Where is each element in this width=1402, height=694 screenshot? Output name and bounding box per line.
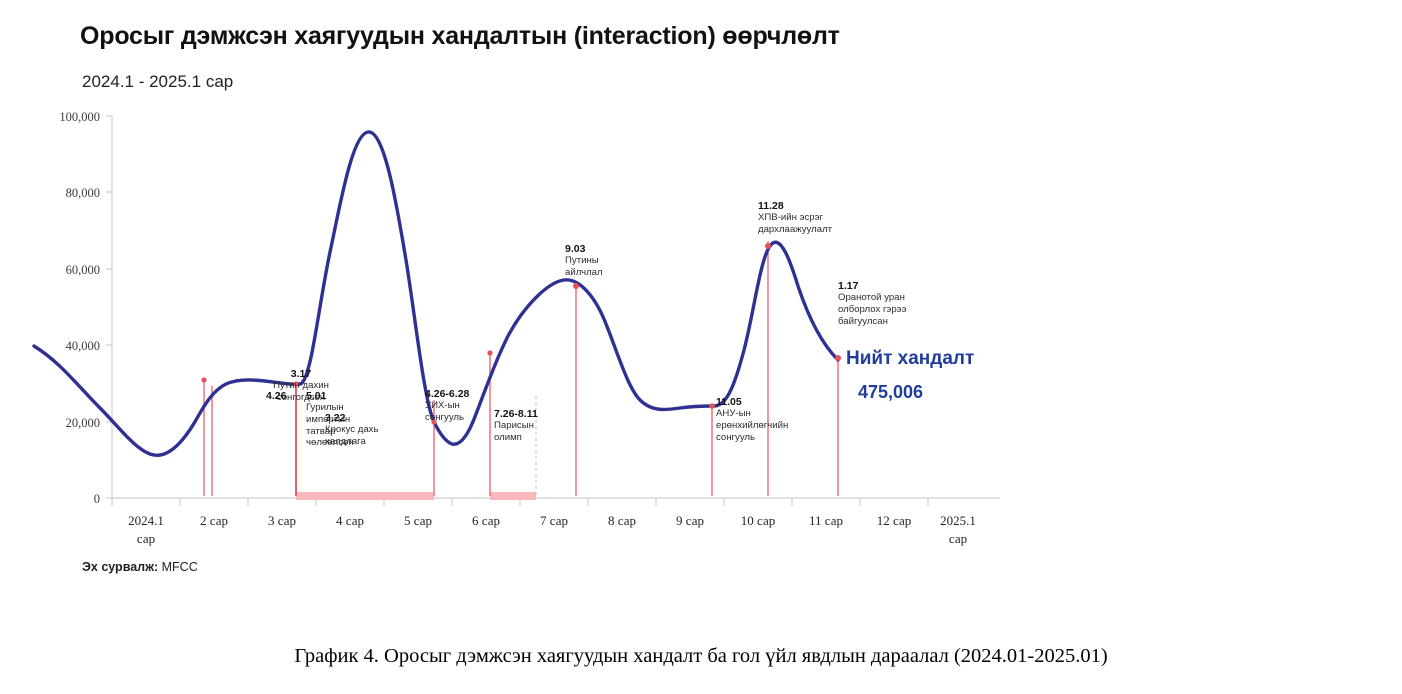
point-1105 (709, 403, 715, 409)
x-tick-label: 11 сар (809, 513, 843, 528)
annotation-1105: 11.05 АНУ-ын ерөнхийлөгчийн сонгууль (716, 396, 808, 443)
annotation-date: 3.17 (265, 368, 337, 380)
point-317 (201, 377, 206, 382)
annotation-date: 5.01 (306, 390, 364, 402)
annotation-date: 11.28 (758, 200, 856, 212)
source-prefix: Эх сурвалж: (82, 560, 158, 574)
annotation-date: 11.05 (716, 396, 808, 408)
point-726 (487, 350, 492, 355)
chart-subtitle: 2024.1 - 2025.1 сар (82, 72, 233, 92)
annotation-date: 4.26 (266, 390, 286, 402)
annotation-date: 4.26-6.28 (425, 388, 487, 400)
point-117 (835, 355, 841, 361)
source-note: Эх сурвалж: MFCC (82, 560, 198, 574)
annotation-text: Гурилын импортын татвар чөлөөлсөн (306, 402, 364, 449)
event-band-uih-songuuli (296, 492, 434, 500)
annotation-text: Парисын олимп (494, 420, 552, 443)
line-chart-svg: 100,000 80,000 60,000 40,000 20,000 0 (0, 100, 1060, 560)
plot-area: 100,000 80,000 60,000 40,000 20,000 0 (0, 100, 1060, 560)
y-tick-label: 100,000 (59, 110, 100, 124)
y-tick-label: 0 (94, 492, 100, 506)
annotation-426: 4.26 (266, 390, 286, 402)
annotation-date: 1.17 (838, 280, 926, 292)
annotation-text: Оранотой уран олборлох гэрээ байгуулсан (838, 292, 926, 327)
annotation-text: ХПВ-ийн эсрэг дархлаажуулалт (758, 212, 856, 235)
y-tick-label: 40,000 (66, 339, 100, 353)
x-tick-label: 7 сар (540, 513, 568, 528)
point-1128 (765, 243, 771, 249)
x-tick-label: 2024.1сар (128, 513, 164, 546)
annotation-117: 1.17 Оранотой уран олборлох гэрээ байгуу… (838, 280, 926, 327)
x-tick-label: 2 сар (200, 513, 228, 528)
y-axis-ticks: 100,000 80,000 60,000 40,000 20,000 0 (59, 110, 112, 506)
total-interactions-label: Нийт хандалт (846, 348, 974, 370)
x-axis-labels: 2024.1сар 2 сар 3 сар 4 сар 5 сар 6 сар … (128, 513, 976, 546)
x-tick-label: 12 сар (877, 513, 911, 528)
annotation-text: Путины айлчлал (565, 255, 625, 278)
y-tick-label: 20,000 (66, 416, 100, 430)
x-tick-label: 2025.1сар (940, 513, 976, 546)
y-tick-label: 80,000 (66, 186, 100, 200)
x-tick-label: 3 сар (268, 513, 296, 528)
x-tick-label: 5 сар (404, 513, 432, 528)
x-tick-label: 10 сар (741, 513, 775, 528)
x-tick-label: 8 сар (608, 513, 636, 528)
annotation-426-628: 4.26-6.28 УИХ-ын сонгууль (425, 388, 487, 424)
annotation-1128: 11.28 ХПВ-ийн эсрэг дархлаажуулалт (758, 200, 856, 236)
x-tick-label: 4 сар (336, 513, 364, 528)
annotation-date: 9.03 (565, 243, 625, 255)
annotation-903: 9.03 Путины айлчлал (565, 243, 625, 279)
point-903 (573, 283, 579, 289)
chart-card: Оросыг дэмжсэн хаягуудын хандалтын (inte… (0, 0, 1402, 610)
total-interactions-value: 475,006 (858, 382, 923, 403)
x-tick-label: 6 сар (472, 513, 500, 528)
page-title: Оросыг дэмжсэн хаягуудын хандалтын (inte… (80, 22, 840, 51)
source-value: MFCC (162, 560, 198, 574)
y-tick-label: 60,000 (66, 263, 100, 277)
annotation-text: АНУ-ын ерөнхийлөгчийн сонгууль (716, 408, 808, 443)
annotation-501: 5.01 Гурилын импортын татвар чөлөөлсөн (306, 390, 364, 449)
x-tick-label: 9 сар (676, 513, 704, 528)
annotation-text: УИХ-ын сонгууль (425, 400, 487, 423)
annotation-date: 7.26-8.11 (494, 408, 552, 420)
event-band-paris-olympics (490, 492, 536, 500)
figure-caption: График 4. Оросыг дэмжсэн хаягуудын ханда… (0, 645, 1402, 668)
annotation-726-811: 7.26-8.11 Парисын олимп (494, 408, 552, 444)
